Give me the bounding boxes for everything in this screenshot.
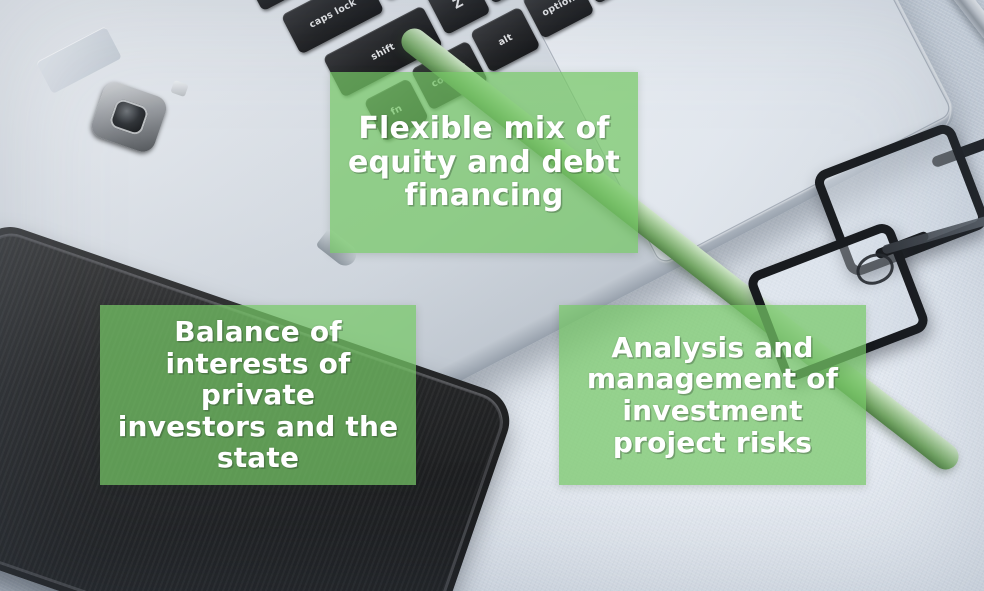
- callout-panel-balance-of-interests: Balance of interests of private investor…: [100, 305, 416, 485]
- callout-text-risk-analysis: Analysis and management of investment pr…: [587, 332, 838, 459]
- callout-text-flexible-financing: Flexible mix of equity and debt financin…: [348, 112, 620, 214]
- callout-text-balance-of-interests: Balance of interests of private investor…: [112, 316, 404, 474]
- callout-panel-risk-analysis: Analysis and management of investment pr…: [559, 305, 866, 485]
- callout-panel-flexible-financing: Flexible mix of equity and debt financin…: [330, 72, 638, 253]
- slide-canvas: esc`~!1@2#3$4%5F1F2F3F4tabQWERTcaps lock…: [0, 0, 984, 591]
